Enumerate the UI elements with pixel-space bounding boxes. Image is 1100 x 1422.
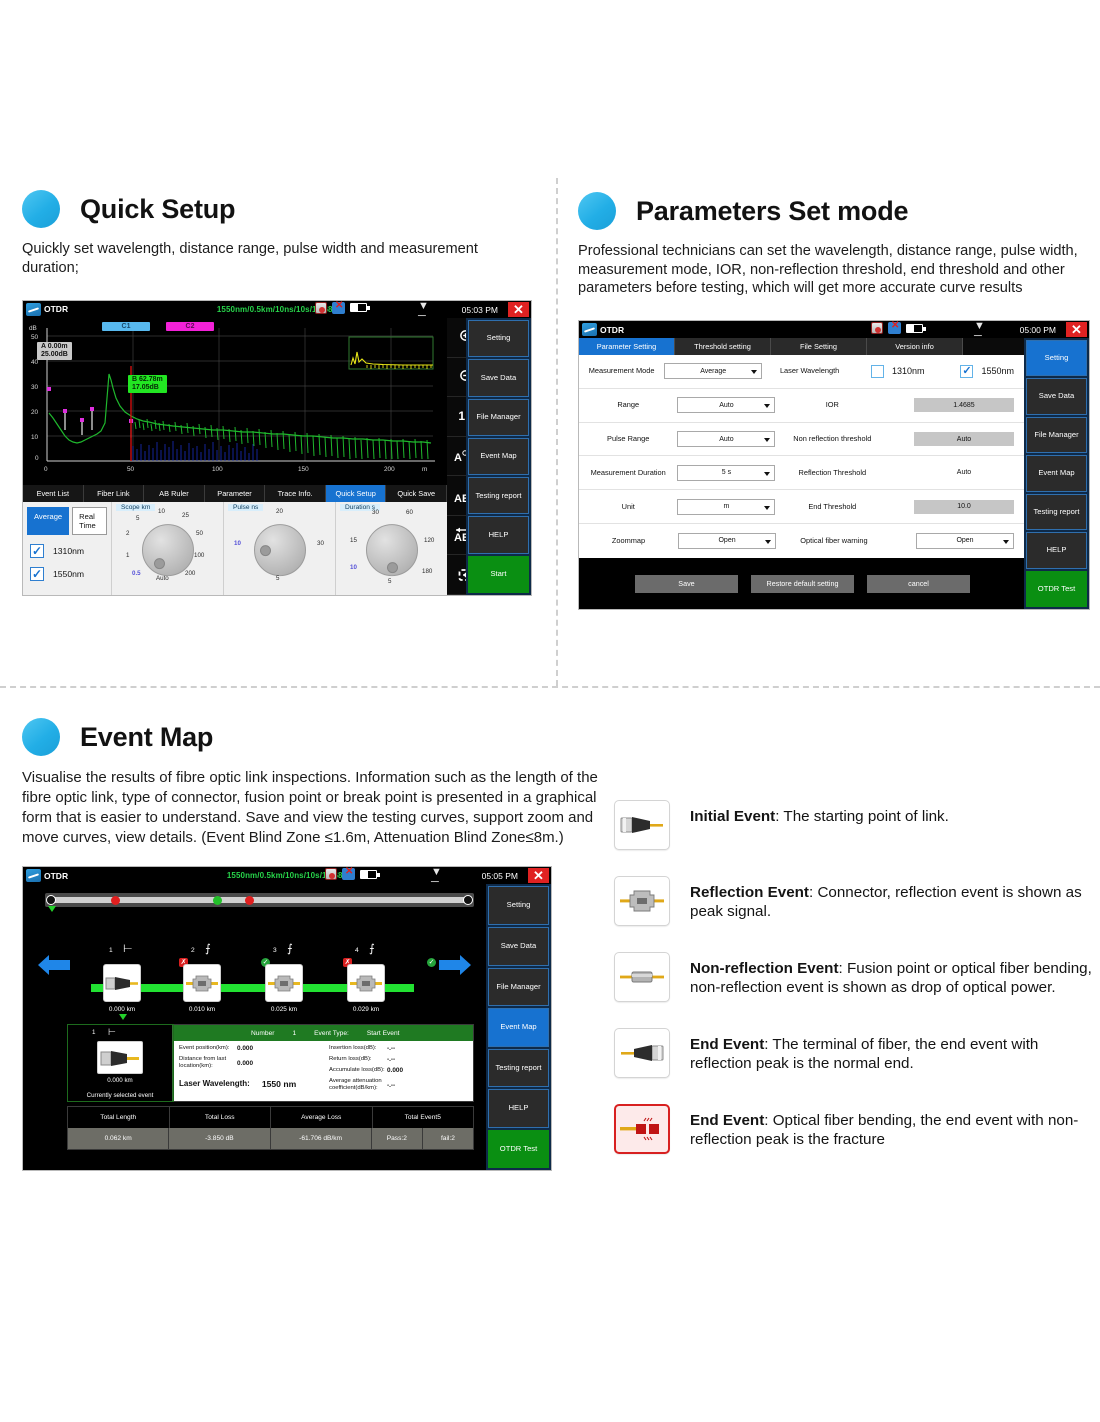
summary-value-average-loss: -61.706 dB/km — [271, 1128, 372, 1149]
detail-avg-attenuation-value: -.-- — [387, 1082, 395, 1089]
non-reflection-event-icon — [614, 952, 670, 1002]
quick-setup-heading: Quick Setup — [22, 190, 532, 228]
trace-svg: dB 50 40 30 20 10 0 0 50 100 150 200 m — [23, 318, 447, 485]
select-unit[interactable]: m — [677, 499, 775, 515]
battery-icon — [906, 324, 923, 333]
initial-event-icon — [97, 1041, 143, 1074]
event-4-type-glyph: ⨍ — [369, 944, 375, 955]
screenshot-icon[interactable] — [325, 868, 337, 880]
section-description: Visualise the results of fibre optic lin… — [22, 768, 602, 848]
event-detail-header: Number 1 Event Type: Start Event — [173, 1025, 473, 1041]
summary-header-total-length: Total Length — [68, 1107, 170, 1128]
vertical-divider — [556, 178, 558, 686]
event-2-distance: 0.010 km — [172, 1006, 232, 1013]
selected-event-number: 1 — [92, 1029, 95, 1036]
overview-dot-event3[interactable] — [213, 896, 222, 905]
tab-threshold-setting[interactable]: Threshold setting — [675, 338, 771, 355]
row-unit: Unit m End Threshold 10.0 — [579, 490, 1026, 524]
detail-distance-from-last-label: Distance from last location(km): — [179, 1056, 237, 1070]
svg-text:150: 150 — [298, 466, 309, 473]
detail-return-loss-value: -.-- — [387, 1056, 395, 1063]
status-icons — [315, 302, 367, 314]
mode-average-button[interactable]: Average — [27, 507, 69, 535]
clock-label: 05:05 PM — [482, 871, 518, 881]
otdr3-side-menu: Setting Save Data File Manager Event Map… — [486, 884, 551, 1170]
legend-text: End Event: The terminal of fiber, the en… — [690, 1028, 1094, 1074]
label-non-reflection-threshold: Non reflection threshold — [793, 435, 871, 443]
dial-duration-tick-15[interactable]: 15 — [350, 537, 357, 544]
marker-a-readout: A 0.00m 25.00dB — [37, 342, 72, 360]
clock-label: 05:00 PM — [1020, 325, 1056, 335]
event-1-type-glyph: ⊢ — [123, 944, 133, 955]
detail-return-loss-label: Return loss(dB): — [329, 1056, 387, 1063]
initial-event-icon — [614, 800, 670, 850]
save-button[interactable]: Save — [635, 575, 738, 593]
event-4-node-reflection-event-icon[interactable] — [347, 964, 385, 1002]
dial-duration-tick-10[interactable]: 10 — [350, 564, 357, 571]
detail-left-column: Event position(km): 0.000 Distance from … — [173, 1044, 323, 1101]
label-range: Range — [617, 401, 639, 409]
marker-b-value: 17.05dB — [132, 384, 159, 391]
label-1550nm: 1550nm — [981, 366, 1014, 376]
detail-insertion-loss-row: Insertion loss(dB): -.-- — [329, 1045, 467, 1052]
section-description: Quickly set wavelength, distance range, … — [22, 240, 532, 278]
select-optical-fiber-warning[interactable]: Open — [916, 533, 1014, 549]
side-help-button[interactable]: HELP — [1026, 532, 1087, 568]
tab-trace-info[interactable]: Trace Info. — [265, 485, 326, 502]
selected-event-glyph: ⊢ — [108, 1027, 116, 1038]
otdr2-titlebar: OTDR ▼─ 05:00 PM ✕ — [579, 321, 1089, 338]
detail-insertion-loss-label: Insertion loss(dB): — [329, 1045, 387, 1052]
legend-item-reflection-event: Reflection Event: Connector, reflection … — [614, 876, 1094, 926]
cursor-c1-chip[interactable]: C1 — [102, 322, 150, 331]
side-testing-report-button[interactable]: Testing report — [488, 1049, 549, 1088]
checkbox-1550nm[interactable]: ✓ — [30, 567, 44, 581]
side-otdr-test-button[interactable]: OTDR Test — [488, 1130, 549, 1169]
field-end-threshold[interactable]: 10.0 — [914, 500, 1014, 514]
otdr1-tabstrip: Event List Fiber Link AB Ruler Parameter… — [23, 485, 447, 502]
label-optical-fiber-warning: Optical fiber warning — [800, 537, 867, 545]
field-ior[interactable]: 1.4685 — [914, 398, 1014, 412]
dial-duration-tick-60[interactable]: 60 — [406, 509, 413, 516]
dial-scope-tick-25[interactable]: 25 — [182, 512, 189, 519]
quick-setup-left-column: Average Real Time ✓ 1310nm ✓ 1550nm — [23, 502, 111, 595]
dial-duration-tick-120[interactable]: 120 — [424, 537, 434, 544]
detail-avg-attenuation-label: Average attenuation coefficient(dB/km): — [329, 1078, 387, 1092]
otdr-logo-icon — [582, 323, 597, 336]
event-4-distance: 0.029 km — [336, 1006, 396, 1013]
event-1-number: 1 — [109, 947, 113, 954]
section-quick-setup: Quick Setup Quickly set wavelength, dist… — [22, 190, 532, 596]
detail-number-value: 1 — [292, 1030, 296, 1037]
dial-scope-knob[interactable] — [142, 525, 194, 577]
tab-file-setting[interactable]: File Setting — [771, 338, 867, 355]
close-icon[interactable]: ✕ — [1066, 322, 1087, 337]
label-pulse-range: Pulse Range — [607, 435, 649, 443]
detail-distance-from-last-row: Distance from last location(km): 0.000 — [179, 1056, 317, 1070]
legend-desc: : The starting point of link. — [775, 808, 949, 825]
dial-pulse-tick-5[interactable]: 5 — [276, 575, 279, 582]
otdr3-titlebar: OTDR 1550nm/0.5km/10ns/10s/1.4685 ▼─ 05:… — [23, 867, 551, 884]
otdr2-side-menu: Setting Save Data File Manager Event Map… — [1024, 338, 1089, 609]
marker-b-id: B — [132, 376, 137, 383]
summary-header-total-loss: Total Loss — [170, 1107, 272, 1128]
detail-event-position-label: Event position(km): — [179, 1045, 237, 1052]
detail-type-value: Start Event — [367, 1030, 400, 1037]
detail-accumulate-loss-row: Accumulate loss(dB): 0.000 — [329, 1067, 467, 1074]
tab-quick-save[interactable]: Quick Save — [386, 485, 447, 502]
side-file-manager-button[interactable]: File Manager — [1026, 417, 1087, 453]
tab-event-list[interactable]: Event List — [23, 485, 84, 502]
otdr1-titlebar: OTDR 1550nm/0.5km/10ns/10s/1.4685 ▼─ 05:… — [23, 301, 531, 318]
measurement-params: 1550nm/0.5km/10ns/10s/1.4685 — [23, 305, 531, 314]
svg-text:m: m — [422, 466, 427, 473]
section-parameters-set-mode: Parameters Set mode Professional technic… — [578, 192, 1090, 610]
section-event-map: Event Map Visualise the results of fibre… — [22, 718, 602, 1171]
detail-type-label: Event Type: — [314, 1030, 349, 1037]
event-map-overview-scrollbar[interactable] — [45, 893, 474, 907]
dial-duration-indicator — [387, 563, 398, 574]
svg-text:A: A — [454, 452, 462, 463]
event-detail-right: Number 1 Event Type: Start Event Event p… — [173, 1025, 473, 1101]
detail-distance-from-last-value: 0.000 — [237, 1060, 253, 1067]
side-file-manager-button[interactable]: File Manager — [468, 399, 529, 436]
bullet-icon — [578, 192, 616, 230]
legend-item-initial-event: Initial Event: The starting point of lin… — [614, 800, 1094, 850]
side-setting-button[interactable]: Setting — [468, 320, 529, 357]
dial-duration-tick-180[interactable]: 180 — [422, 568, 432, 575]
section-title: Parameters Set mode — [636, 196, 908, 227]
detail-number-label: Number — [251, 1030, 274, 1037]
detail-avg-attenuation-row: Average attenuation coefficient(dB/km): … — [329, 1078, 467, 1092]
wavelength-1310-row[interactable]: ✓ 1310nm — [30, 544, 107, 558]
event-detail-grid: Event position(km): 0.000 Distance from … — [173, 1041, 473, 1101]
svg-text:10: 10 — [31, 434, 39, 441]
legend-item-non-reflection-event: Non-reflection Event: Fusion point or op… — [614, 952, 1094, 1002]
network-disconnected-icon[interactable] — [332, 302, 345, 314]
selected-event-caption: Currently selected event — [87, 1092, 154, 1099]
event-2-node-reflection-event-icon[interactable] — [183, 964, 221, 1002]
event-map-body: 1 ⊢ 0.000 km 2 ⨍ ✗ 0.010 km 3 ⨍ ✓ — [23, 884, 486, 1170]
detail-return-loss-row: Return loss(dB): -.-- — [329, 1056, 467, 1063]
event-3-type-glyph: ⨍ — [287, 944, 293, 955]
summary-table: Total Length Total Loss Average Loss Tot… — [67, 1106, 474, 1150]
tab-parameter-setting[interactable]: Parameter Setting — [579, 338, 675, 355]
wavelength-1310-label: 1310nm — [53, 546, 84, 556]
detail-event-position-row: Event position(km): 0.000 — [179, 1045, 317, 1052]
label-end-threshold: End Threshold — [808, 503, 856, 511]
label-1310nm: 1310nm — [892, 366, 925, 376]
marker-b-readout: B 62.78m 17.05dB — [128, 375, 167, 393]
bullet-icon — [22, 190, 60, 228]
side-testing-report-button[interactable]: Testing report — [1026, 494, 1087, 530]
legend-text: Non-reflection Event: Fusion point or op… — [690, 952, 1094, 998]
checkbox-1310nm[interactable] — [871, 365, 884, 378]
marker-a-position: A — [41, 343, 46, 350]
cursor-c2-chip[interactable]: C2 — [166, 322, 214, 331]
detail-laser-wavelength-label: Laser Wavelength: — [179, 1079, 250, 1088]
row-range: Range Auto IOR 1.4685 — [579, 389, 1026, 423]
scroll-handle-right[interactable] — [463, 895, 473, 905]
battery-icon — [350, 303, 367, 312]
label-measurement-mode: Measurement Mode — [589, 367, 655, 375]
event-1-node-initial-event-icon[interactable] — [103, 964, 141, 1002]
detail-insertion-loss-value: -.-- — [387, 1045, 395, 1052]
tab-version-info[interactable]: Version info — [867, 338, 963, 355]
nav-next-arrow-icon[interactable] — [438, 954, 472, 981]
legend-title: End Event — [690, 1112, 764, 1129]
dial-scope-tick-200[interactable]: 200 — [185, 570, 195, 577]
svg-text:30: 30 — [31, 384, 39, 391]
summary-value-total-length: 0.062 km — [68, 1128, 169, 1149]
dial-scope-tick-50[interactable]: 50 — [196, 530, 203, 537]
legend-item-end-event: End Event: The terminal of fiber, the en… — [614, 1028, 1094, 1078]
tab-parameter[interactable]: Parameter — [205, 485, 266, 502]
event-type-legend: Initial Event: The starting point of lin… — [614, 800, 1094, 1180]
summary-header-average-loss: Average Loss — [271, 1107, 373, 1128]
selected-event-distance: 0.000 km — [107, 1077, 132, 1084]
marker-a-value: 25.00dB — [41, 351, 68, 358]
dial-pulse-knob[interactable] — [254, 525, 306, 577]
bullet-icon — [22, 718, 60, 756]
svg-text:50: 50 — [127, 466, 135, 473]
detail-accumulate-loss-label: Accumulate loss(dB): — [329, 1067, 387, 1074]
svg-text:dB: dB — [29, 325, 37, 332]
event-1-distance: 0.000 km — [92, 1006, 152, 1013]
dial-scope-tick-10[interactable]: 10 — [158, 508, 165, 515]
tab-ab-ruler[interactable]: AB Ruler — [144, 485, 205, 502]
label-ior: IOR — [826, 401, 839, 409]
screenshot-icon[interactable] — [871, 322, 883, 334]
side-help-button[interactable]: HELP — [468, 516, 529, 553]
select-measurement-mode[interactable]: Average — [664, 363, 762, 379]
label-laser-wavelength: Laser Wavelength — [780, 367, 839, 375]
restore-default-setting-button[interactable]: Restore default setting — [751, 575, 854, 593]
screenshot-icon[interactable] — [315, 302, 327, 314]
summary-header-total-events: Total Event5 — [373, 1107, 474, 1128]
row-pulse-range: Pulse Range Auto Non reflection threshol… — [579, 423, 1026, 457]
legend-title: Initial Event — [690, 808, 775, 825]
select-range[interactable]: Auto — [677, 397, 775, 413]
row-zoommap: Zoommap Open Optical fiber warning Open — [579, 524, 1026, 558]
detail-event-position-value: 0.000 — [237, 1045, 253, 1052]
otdr1-side-menu: Setting Save Data File Manager Event Map… — [466, 318, 531, 595]
checkbox-1550nm[interactable]: ✓ — [960, 365, 973, 378]
side-event-map-button[interactable]: Event Map — [1026, 455, 1087, 491]
clock-label: 05:03 PM — [462, 305, 498, 315]
side-save-data-button[interactable]: Save Data — [468, 359, 529, 396]
overview-dot-event2[interactable] — [111, 896, 120, 905]
select-pulse-range[interactable]: Auto — [677, 431, 775, 447]
measurement-params: 1550nm/0.5km/10ns/10s/1.4685 — [23, 871, 551, 880]
dial-duration-tick-5[interactable]: 5 — [388, 578, 391, 585]
summary-value-row: 0.062 km -3.850 dB -61.706 dB/km Pass:2 … — [68, 1128, 473, 1149]
section-title: Event Map — [80, 722, 213, 753]
event-2-number: 2 — [191, 947, 195, 954]
side-event-map-button[interactable]: Event Map — [468, 438, 529, 475]
overview-position-marker — [48, 906, 56, 912]
side-save-data-button[interactable]: Save Data — [1026, 378, 1087, 414]
dial-scope-km[interactable]: Scope km 5 10 25 2 50 1 100 0.5 Auto 200 — [111, 502, 223, 595]
status-icons — [871, 322, 923, 334]
svg-text:20: 20 — [31, 409, 39, 416]
svg-text:0: 0 — [44, 466, 48, 473]
dial-scope-tick-100[interactable]: 100 — [194, 552, 204, 559]
dial-pulse-tick-20[interactable]: 20 — [276, 508, 283, 515]
event-3-node-reflection-event-icon[interactable] — [265, 964, 303, 1002]
event-3-number: 3 — [273, 947, 277, 954]
network-disconnected-icon[interactable] — [888, 322, 901, 334]
dial-pulse-title: Pulse ns — [228, 504, 263, 511]
dial-duration-knob[interactable] — [366, 525, 418, 577]
label-unit: Unit — [622, 503, 635, 511]
tab-quick-setup[interactable]: Quick Setup — [326, 485, 387, 502]
svg-text:50: 50 — [31, 334, 39, 341]
otdr-event-map-screenshot: OTDR 1550nm/0.5km/10ns/10s/1.4685 ▼─ 05:… — [22, 866, 552, 1171]
side-setting-button[interactable]: Setting — [488, 886, 549, 925]
status-icons — [325, 868, 377, 880]
selected-event-marker — [119, 1014, 127, 1020]
svg-text:100: 100 — [212, 466, 223, 473]
wavelength-1310-group[interactable]: 1310nm — [871, 365, 925, 378]
side-file-manager-button[interactable]: File Manager — [488, 968, 549, 1007]
tab-fiber-link[interactable]: Fiber Link — [84, 485, 145, 502]
dial-scope-tick-auto[interactable]: Auto — [156, 575, 169, 582]
side-testing-report-button[interactable]: Testing report — [468, 477, 529, 514]
wavelength-1550-group[interactable]: ✓ 1550nm — [960, 365, 1014, 378]
marker-a-pos-value: 0.00m — [48, 343, 68, 350]
end-event-icon — [614, 1028, 670, 1078]
legend-text: Reflection Event: Connector, reflection … — [690, 876, 1094, 922]
dial-pulse-ns[interactable]: Pulse ns 20 10 30 5 — [223, 502, 335, 595]
quick-setup-panel: Average Real Time ✓ 1310nm ✓ 1550nm Scop… — [23, 502, 447, 595]
event-detail-panel: 1 ⊢ 0.000 km Currently selected event Nu… — [67, 1024, 474, 1102]
legend-title: Reflection Event — [690, 884, 809, 901]
row-measurement-duration: Measurement Duration 5 s Reflection Thre… — [579, 456, 1026, 490]
reflection-event-icon — [614, 876, 670, 926]
summary-value-fail: fail:2 — [423, 1128, 473, 1149]
measurement-mode-toggle: Average Real Time — [27, 507, 107, 535]
marker-b-pos-value: 62.78m — [139, 376, 163, 383]
event-2-type-glyph: ⨍ — [205, 944, 211, 955]
event-chain: 1 ⊢ 0.000 km 2 ⨍ ✗ 0.010 km 3 ⨍ ✓ — [23, 922, 486, 1012]
parameter-footer: Save Restore default setting cancel — [579, 558, 1026, 609]
wavelength-1550-label: 1550nm — [53, 569, 84, 579]
event-4-number: 4 — [355, 947, 359, 954]
legend-text: Initial Event: The starting point of lin… — [690, 800, 949, 826]
side-save-data-button[interactable]: Save Data — [488, 927, 549, 966]
summary-value-total-loss: -3.850 dB — [169, 1128, 270, 1149]
summary-value-pass: Pass:2 — [372, 1128, 423, 1149]
dial-scope-title: Scope km — [116, 504, 155, 511]
side-start-button[interactable]: Start — [468, 556, 529, 593]
dial-scope-indicator — [154, 559, 165, 570]
section-description: Professional technicians can set the wav… — [578, 242, 1090, 298]
row-measurement-mode: Measurement Mode Average Laser Wavelengt… — [579, 355, 1026, 389]
nav-prev-arrow-icon[interactable] — [37, 954, 71, 981]
side-setting-button[interactable]: Setting — [1026, 340, 1087, 376]
parameter-form: Measurement Mode Average Laser Wavelengt… — [579, 355, 1026, 558]
battery-icon — [360, 870, 377, 879]
legend-title: Non-reflection Event — [690, 960, 839, 977]
dial-duration-s[interactable]: Duration s 30 60 15 120 10 180 5 — [335, 502, 447, 595]
select-measurement-duration[interactable]: 5 s — [677, 465, 775, 481]
fracture-event-icon — [614, 1104, 670, 1154]
dial-pulse-tick-30[interactable]: 30 — [317, 540, 324, 547]
detail-laser-wavelength-row: Laser Wavelength: 1550 nm — [179, 1079, 317, 1089]
dial-duration-tick-30[interactable]: 30 — [372, 509, 379, 516]
otdr-trace-plot[interactable]: dB 50 40 30 20 10 0 0 50 100 150 200 m — [23, 318, 447, 485]
svg-text:0: 0 — [35, 455, 39, 462]
scroll-handle-left[interactable] — [46, 895, 56, 905]
close-icon[interactable]: ✕ — [528, 868, 549, 883]
side-event-map-button[interactable]: Event Map — [488, 1008, 549, 1047]
detail-right-column: Insertion loss(dB): -.-- Return loss(dB)… — [323, 1044, 473, 1101]
summary-header-row: Total Length Total Loss Average Loss Tot… — [68, 1107, 473, 1128]
dial-scope-tick-0-5[interactable]: 0.5 — [132, 570, 141, 577]
select-zoommap[interactable]: Open — [678, 533, 776, 549]
event-map-heading: Event Map — [22, 718, 602, 756]
dial-scope-tick-1[interactable]: 1 — [126, 552, 129, 559]
mode-real-time-button[interactable]: Real Time — [72, 507, 107, 535]
field-reflection-threshold: Auto — [914, 469, 1014, 476]
app-title: OTDR — [600, 325, 624, 335]
horizontal-divider — [0, 686, 1100, 688]
close-icon[interactable]: ✕ — [508, 302, 529, 317]
side-otdr-test-button[interactable]: OTDR Test — [1026, 571, 1087, 607]
overview-dot-event4[interactable] — [245, 896, 254, 905]
field-non-reflection-threshold[interactable]: Auto — [914, 432, 1014, 446]
legend-text: End Event: Optical fiber bending, the en… — [690, 1104, 1094, 1150]
label-measurement-duration: Measurement Duration — [591, 469, 666, 477]
network-disconnected-icon[interactable] — [342, 868, 355, 880]
otdr-parameter-setting-screenshot: OTDR ▼─ 05:00 PM ✕ Parameter Setting Thr… — [578, 320, 1090, 610]
dial-pulse-indicator — [260, 546, 271, 557]
side-help-button[interactable]: HELP — [488, 1089, 549, 1128]
cancel-button[interactable]: cancel — [867, 575, 970, 593]
legend-title: End Event — [690, 1036, 764, 1053]
label-reflection-threshold: Reflection Threshold — [799, 469, 867, 477]
otdr2-tabstrip: Parameter Setting Threshold setting File… — [579, 338, 1026, 355]
svg-text:200: 200 — [384, 466, 395, 473]
params-heading: Parameters Set mode — [578, 192, 1090, 230]
dial-pulse-tick-10[interactable]: 10 — [234, 540, 241, 547]
end-pass-badge: ✓ — [427, 958, 436, 967]
wavelength-1550-row[interactable]: ✓ 1550nm — [30, 567, 107, 581]
dial-scope-tick-5[interactable]: 5 — [136, 515, 139, 522]
label-zoommap: Zoommap — [612, 537, 645, 545]
dial-scope-tick-2[interactable]: 2 — [126, 530, 129, 537]
otdr-quick-setup-screenshot: OTDR 1550nm/0.5km/10ns/10s/1.4685 ▼─ 05:… — [22, 300, 532, 596]
detail-laser-wavelength-value: 1550 nm — [262, 1079, 296, 1089]
selected-event-thumb: 1 ⊢ 0.000 km Currently selected event — [68, 1025, 173, 1101]
checkbox-1310nm[interactable]: ✓ — [30, 544, 44, 558]
detail-accumulate-loss-value: 0.000 — [387, 1067, 403, 1074]
event-3-distance: 0.025 km — [254, 1006, 314, 1013]
legend-item-fracture-event: End Event: Optical fiber bending, the en… — [614, 1104, 1094, 1154]
section-title: Quick Setup — [80, 194, 235, 225]
